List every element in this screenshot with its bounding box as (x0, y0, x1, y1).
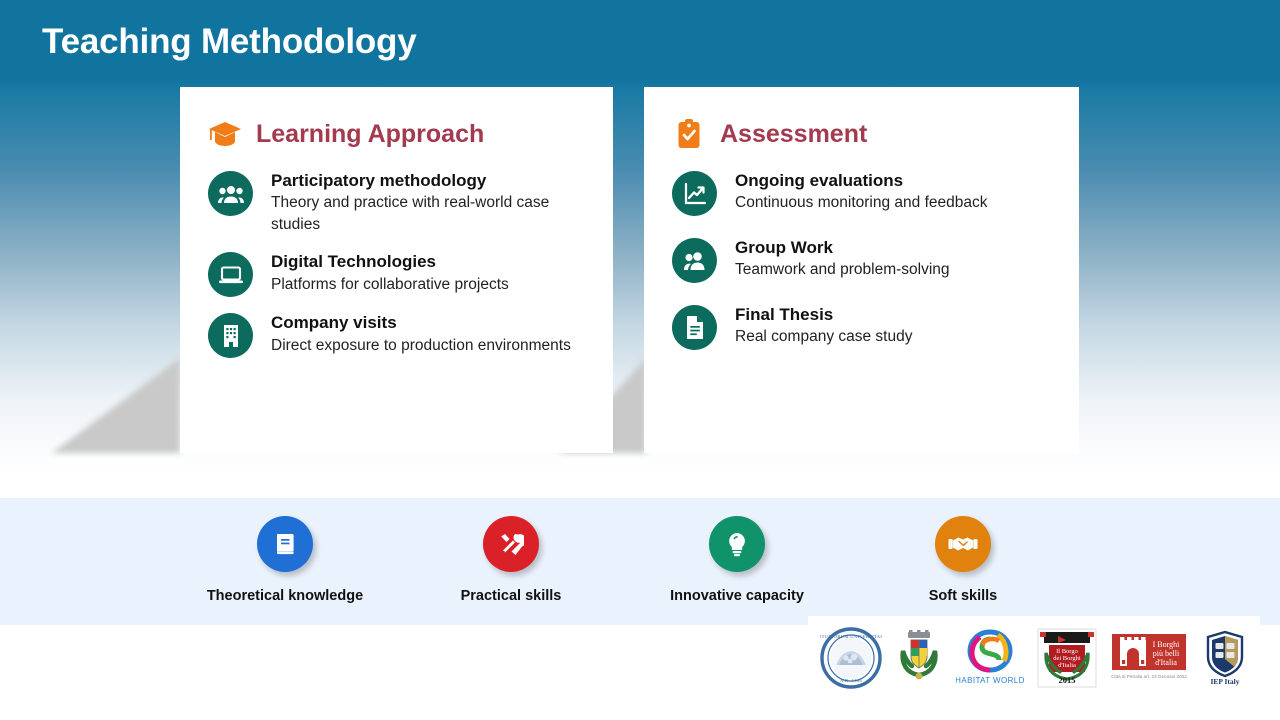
list-item-text: Ongoing evaluations Continuous monitorin… (717, 169, 987, 214)
outcome-label: Practical skills (461, 588, 562, 604)
list-item-text: Group Work Teamwork and problem-solving (717, 236, 950, 281)
svg-text:HABITAT WORLD: HABITAT WORLD (956, 676, 1024, 685)
people-group-icon (672, 238, 717, 283)
card-shadow-left (52, 358, 180, 453)
tools-icon (483, 516, 539, 572)
svg-text:Il Borgo: Il Borgo (1056, 648, 1078, 655)
municipality-crest-logo (894, 629, 944, 687)
svg-text:STUDIORUM UNIVERSITAS: STUDIORUM UNIVERSITAS (820, 634, 882, 639)
handshake-icon (935, 516, 991, 572)
outcomes-row: Theoretical knowledge Practical skills (0, 498, 1280, 625)
iep-italy-logo: IEP Italy (1202, 629, 1248, 687)
list-item-title: Digital Technologies (271, 251, 509, 272)
list-item: Final Thesis Real company case study (672, 303, 1079, 350)
clipboard-check-icon (672, 117, 706, 151)
outcome-soft-skills: Soft skills (850, 498, 1076, 625)
list-item-title: Participatory methodology (271, 170, 591, 191)
card-header: Assessment (644, 87, 1079, 151)
outcome-innovative-capacity: Innovative capacity (624, 498, 850, 625)
building-icon (208, 313, 253, 358)
outcome-practical-skills: Practical skills (398, 498, 624, 625)
list-item-description: Continuous monitoring and feedback (735, 192, 987, 214)
card-title: Learning Approach (256, 120, 484, 149)
card-learning-approach: Learning Approach Participatory methodol… (180, 87, 613, 453)
laptop-icon (208, 252, 253, 297)
book-icon (257, 516, 313, 572)
list-item-text: Company visits Direct exposure to produc… (253, 311, 571, 356)
outcome-theoretical-knowledge: Theoretical knowledge (172, 498, 398, 625)
list-item-description: Teamwork and problem-solving (735, 259, 950, 281)
svg-text:A.D. 1548: A.D. 1548 (840, 678, 862, 683)
svg-text:d'Italia: d'Italia (1058, 662, 1076, 669)
svg-text:I Borghi: I Borghi (1153, 640, 1181, 649)
list-item: Digital Technologies Platforms for colla… (208, 250, 613, 297)
svg-text:d'Italia: d'Italia (1155, 658, 1177, 667)
list-item-title: Ongoing evaluations (735, 170, 987, 191)
list-item: Ongoing evaluations Continuous monitorin… (672, 169, 1079, 216)
page-title: Teaching Methodology (42, 22, 417, 62)
list-item-title: Group Work (735, 237, 950, 258)
svg-text:più belli: più belli (1153, 649, 1180, 658)
list-item: Company visits Direct exposure to produc… (208, 311, 613, 358)
slide-root: Teaching Methodology Learning Approach (0, 0, 1280, 720)
outcome-label: Theoretical knowledge (207, 588, 363, 604)
list-item-description: Direct exposure to production environmen… (271, 335, 571, 357)
list-item: Participatory methodology Theory and pra… (208, 169, 613, 236)
list-item-title: Final Thesis (735, 304, 912, 325)
card-assessment: Assessment Ongoing evaluations Continuou… (644, 87, 1079, 453)
list-item-description: Real company case study (735, 326, 912, 348)
document-icon (672, 305, 717, 350)
assessment-items-list: Ongoing evaluations Continuous monitorin… (644, 151, 1079, 350)
university-seal-logo: STUDIORUM UNIVERSITAS A.D. 1548 (820, 627, 882, 689)
list-item-title: Company visits (271, 312, 571, 333)
outcome-label: Soft skills (929, 588, 998, 604)
list-item-text: Final Thesis Real company case study (717, 303, 912, 348)
graduation-cap-icon (208, 117, 242, 151)
list-item-text: Participatory methodology Theory and pra… (253, 169, 591, 236)
people-group-icon (208, 171, 253, 216)
svg-text:2015: 2015 (1059, 675, 1076, 685)
habitat-world-logo: HABITAT WORLD (956, 627, 1024, 689)
chart-line-icon (672, 171, 717, 216)
borghi-piu-belli-logo: I Borghi più belli d'Italia Città di Pet… (1110, 630, 1190, 686)
card-title: Assessment (720, 120, 867, 149)
svg-text:Città di Petralia art. 23 Genn: Città di Petralia art. 23 Gennaio 2002 (1111, 674, 1187, 679)
partner-logo-bar: STUDIORUM UNIVERSITAS A.D. 1548 (808, 616, 1260, 700)
card-header: Learning Approach (180, 87, 613, 151)
borgo-dei-borghi-logo: Il Borgo dei Borghi d'Italia 2015 (1036, 627, 1098, 689)
list-item-text: Digital Technologies Platforms for colla… (253, 250, 509, 295)
svg-text:IEP Italy: IEP Italy (1211, 677, 1240, 686)
list-item-description: Platforms for collaborative projects (271, 274, 509, 296)
outcome-label: Innovative capacity (670, 588, 804, 604)
lightbulb-icon (709, 516, 765, 572)
list-item-description: Theory and practice with real-world case… (271, 192, 591, 236)
list-item: Group Work Teamwork and problem-solving (672, 236, 1079, 283)
svg-text:dei Borghi: dei Borghi (1053, 655, 1081, 662)
learning-items-list: Participatory methodology Theory and pra… (180, 151, 613, 358)
